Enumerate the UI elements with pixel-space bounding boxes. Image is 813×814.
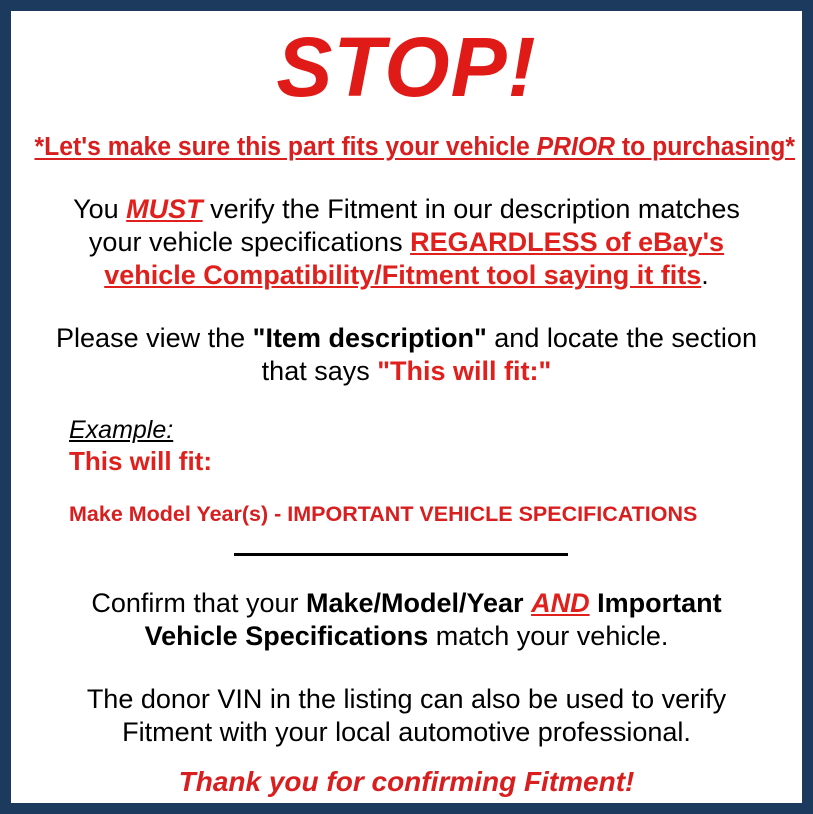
divider-wrap	[23, 549, 790, 561]
item-description-paragraph: Please view the "Item description" and l…	[23, 322, 790, 388]
confirm-paragraph: Confirm that your Make/Model/Year AND Im…	[23, 587, 790, 653]
donor-vin-paragraph: The donor VIN in the listing can also be…	[23, 683, 790, 749]
section-divider	[234, 553, 568, 556]
example-block: Example: This will fit: Make Model Year(…	[23, 416, 790, 528]
fitment-notice-card: STOP! *Let's make sure this part fits yo…	[0, 0, 813, 814]
must-part-3: .	[701, 260, 709, 290]
must-emphasis: MUST	[126, 194, 203, 224]
this-will-fit-emphasis: "This will fit:"	[377, 356, 551, 386]
tagline-before: *Let's make sure this part fits your veh…	[35, 133, 537, 161]
confirm-part-1: Confirm that your	[91, 588, 306, 618]
example-spec-line: Make Model Year(s) - IMPORTANT VEHICLE S…	[69, 502, 790, 528]
tagline-prior-emphasis: PRIOR	[537, 133, 615, 161]
make-model-year-emphasis: Make/Model/Year	[306, 588, 524, 618]
stop-heading: STOP!	[23, 25, 790, 109]
notice-content: STOP! *Let's make sure this part fits yo…	[11, 11, 802, 803]
example-label: Example:	[69, 416, 173, 445]
confirm-part-4: match your vehicle.	[428, 621, 668, 651]
example-label-row: Example:	[69, 416, 790, 445]
must-part-1: You	[73, 194, 126, 224]
and-emphasis: AND	[531, 588, 590, 618]
confirm-part-2	[524, 588, 532, 618]
thank-you-message: Thank you for confirming Fitment!	[23, 765, 790, 799]
item-description-emphasis: "Item description"	[253, 323, 487, 353]
example-fit-header: This will fit:	[69, 446, 790, 477]
confirm-part-3	[590, 588, 598, 618]
must-verify-paragraph: You MUST verify the Fitment in our descr…	[23, 193, 790, 292]
tagline-after: to purchasing*	[615, 133, 795, 161]
view-part-1: Please view the	[56, 323, 253, 353]
tagline: *Let's make sure this part fits your veh…	[35, 133, 779, 161]
